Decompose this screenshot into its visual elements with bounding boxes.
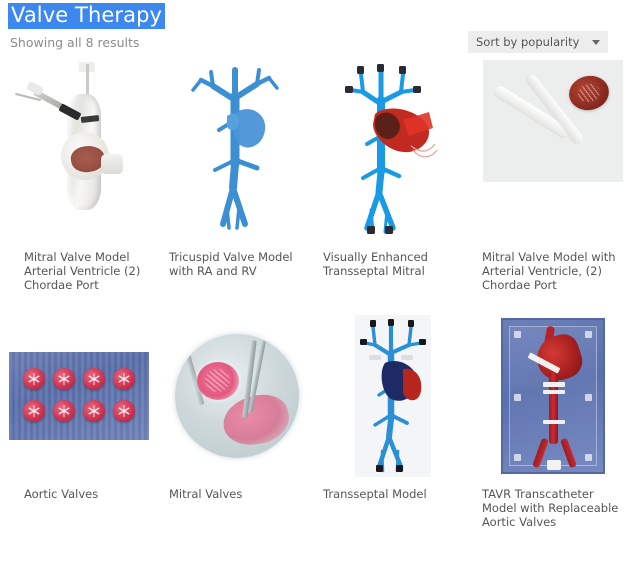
product-title[interactable]: TAVR Transcatheter Model with Replaceabl… (482, 487, 622, 529)
product-card[interactable]: Mitral Valves (158, 310, 316, 560)
sort-dropdown[interactable]: Sort by popularity (468, 31, 608, 53)
product-title[interactable]: Mitral Valve Model Arterial Ventricle (2… (24, 250, 156, 292)
product-title[interactable]: Visually Enhanced Transseptal Mitral (323, 250, 463, 278)
product-thumbnail[interactable] (158, 60, 316, 246)
silicone-valve-model-image (13, 60, 145, 228)
product-grid: Mitral Valve Model Arterial Ventricle (2… (0, 60, 633, 560)
blue-tree-red-heart-image (329, 60, 461, 236)
product-archive-page: Valve Therapy Showing all 8 results Sort… (0, 0, 633, 562)
product-thumbnail[interactable] (474, 310, 632, 482)
product-card[interactable]: Mitral Valve Model Arterial Ventricle (2… (0, 60, 158, 310)
product-card[interactable]: Aortic Valves (0, 310, 158, 560)
product-card[interactable]: Mitral Valve Model with Arterial Ventric… (474, 60, 632, 310)
tavr-acrylic-frame-image (501, 318, 605, 474)
product-title[interactable]: Mitral Valve Model with Arterial Ventric… (482, 250, 622, 292)
product-title[interactable]: Tricuspid Valve Model with RA and RV (169, 250, 305, 278)
product-title[interactable]: Transseptal Model (323, 487, 463, 501)
chevron-down-icon (592, 40, 600, 45)
product-thumbnail[interactable] (0, 310, 158, 482)
valves-on-blue-drape-image (9, 352, 149, 440)
product-thumbnail[interactable] (316, 310, 474, 482)
endoscopic-circle-image (175, 334, 299, 458)
product-thumbnail[interactable] (474, 60, 632, 246)
product-title[interactable]: Mitral Valves (169, 487, 305, 501)
product-card[interactable]: Tricuspid Valve Model with RA and RV (158, 60, 316, 310)
product-card[interactable]: TAVR Transcatheter Model with Replaceabl… (474, 310, 632, 560)
result-count: Showing all 8 results (10, 35, 139, 51)
blue-vascular-tree-image (171, 60, 303, 232)
product-thumbnail[interactable] (316, 60, 474, 246)
sort-dropdown-value: Sort by popularity (476, 35, 586, 49)
product-thumbnail[interactable] (158, 310, 316, 482)
product-title[interactable]: Aortic Valves (24, 487, 156, 501)
photo-tubes-red-valve-image (483, 60, 623, 182)
product-card[interactable]: Visually Enhanced Transseptal Mitral (316, 60, 474, 310)
product-thumbnail[interactable] (0, 60, 158, 246)
blue-tree-navy-heart-image (341, 315, 449, 477)
page-title: Valve Therapy (8, 3, 165, 29)
product-card[interactable]: Transseptal Model (316, 310, 474, 560)
